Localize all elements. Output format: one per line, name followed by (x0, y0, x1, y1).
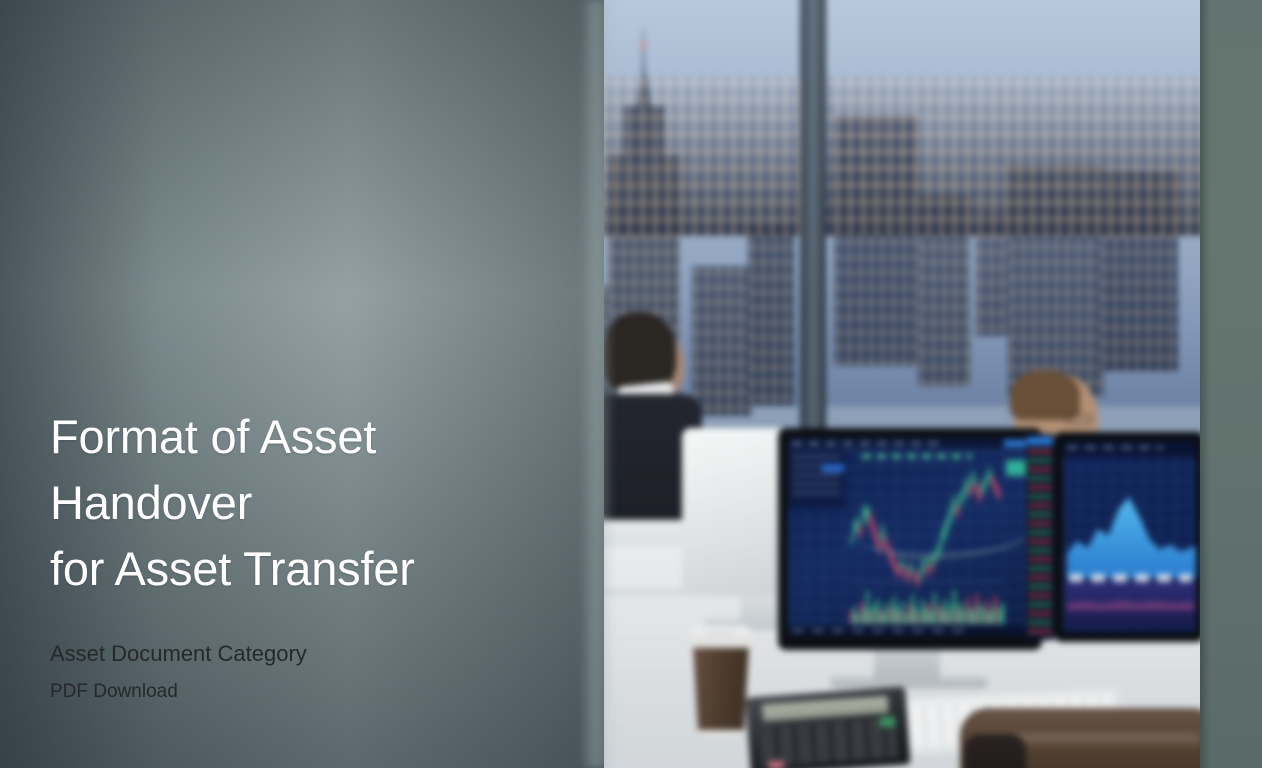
calculator-display (762, 696, 889, 722)
volume-histogram (850, 582, 1004, 624)
slide-text-block: Format of Asset Handover for Asset Trans… (50, 404, 590, 704)
trading-status-bar (788, 626, 1034, 636)
right-wall-strip (1200, 0, 1262, 768)
secondary-monitor (1054, 432, 1202, 642)
ticker-rows (1028, 450, 1052, 634)
page-title: Format of Asset Handover for Asset Trans… (50, 404, 590, 602)
slide-canvas: Format of Asset Handover for Asset Trans… (0, 0, 1262, 768)
office-photo (596, 0, 1202, 768)
calculator-equals-key (879, 716, 896, 727)
building (692, 266, 752, 416)
calculator-clear-key (768, 760, 785, 768)
hair (1010, 370, 1080, 420)
quote-ticker-text (862, 454, 972, 459)
trading-monitor (778, 428, 1042, 650)
eyeglasses-icon (1066, 414, 1092, 424)
building (748, 226, 794, 406)
ticker-panel (1026, 434, 1054, 640)
spire-antenna (642, 28, 645, 70)
pdf-download-link[interactable]: PDF Download (50, 679, 590, 704)
side-panel-highlight (822, 464, 844, 472)
window-mullion (800, 0, 826, 446)
coffee-cup-lid (690, 626, 752, 648)
ticker-highlight (1027, 437, 1053, 445)
calculator-keys (760, 717, 898, 766)
buy-button (1006, 460, 1028, 476)
city-window-lights (596, 76, 1202, 236)
slide-subtitle: Asset Document Category (50, 640, 590, 668)
calculator (745, 687, 910, 768)
trading-screen (788, 438, 1034, 636)
trading-toolbar (788, 438, 1034, 450)
secondary-toolbar (1063, 441, 1196, 457)
office-photo-inner (596, 0, 1202, 768)
chair-shadow (964, 734, 1026, 768)
coffee-cup-body (693, 644, 749, 730)
trading-side-panel (788, 451, 846, 509)
secondary-screen (1063, 441, 1196, 632)
